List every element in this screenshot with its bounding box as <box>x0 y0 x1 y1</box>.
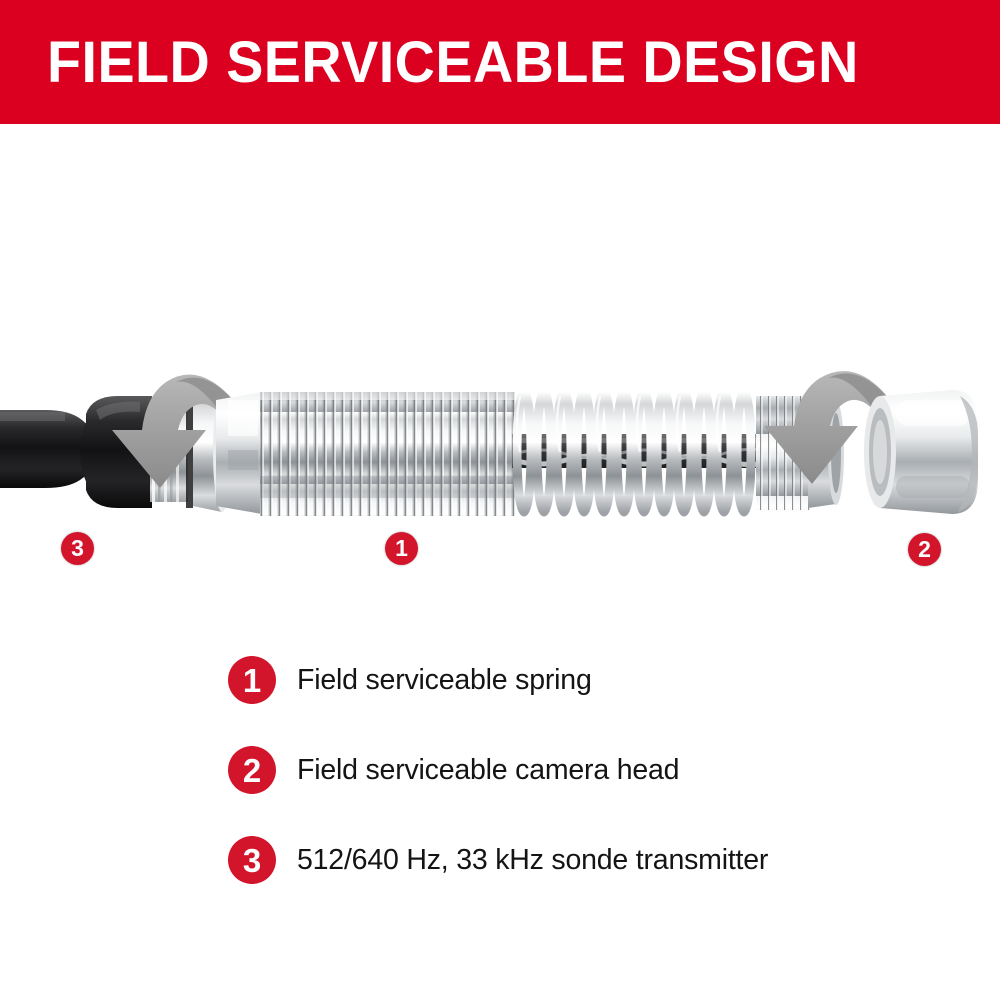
product-artwork <box>0 124 1000 644</box>
legend-badge-3: 3 <box>228 836 276 884</box>
legend-label-2: Field serviceable camera head <box>297 751 679 789</box>
callout-badge-2: 2 <box>908 533 941 566</box>
legend-item-1: 1 Field serviceable spring <box>228 656 968 746</box>
legend-item-3: 3 512/640 Hz, 33 kHz sonde transmitter <box>228 836 968 926</box>
field-serviceable-spring <box>216 392 844 516</box>
legend-list: 1 Field serviceable spring 2 Field servi… <box>228 656 968 926</box>
sonde-transmitter-assembly <box>0 392 231 512</box>
page-title: FIELD SERVICEABLE DESIGN <box>47 34 859 92</box>
legend-label-1: Field serviceable spring <box>297 661 592 699</box>
legend-badge-2: 2 <box>228 746 276 794</box>
product-illustration: 1 2 3 <box>0 124 1000 644</box>
callout-badge-3: 3 <box>61 532 94 565</box>
callout-badge-1: 1 <box>385 532 418 565</box>
legend-item-2: 2 Field serviceable camera head <box>228 746 968 836</box>
legend-label-3: 512/640 Hz, 33 kHz sonde transmitter <box>297 841 768 879</box>
camera-head <box>864 390 978 514</box>
header-banner: FIELD SERVICEABLE DESIGN <box>0 0 1000 124</box>
legend-badge-1: 1 <box>228 656 276 704</box>
